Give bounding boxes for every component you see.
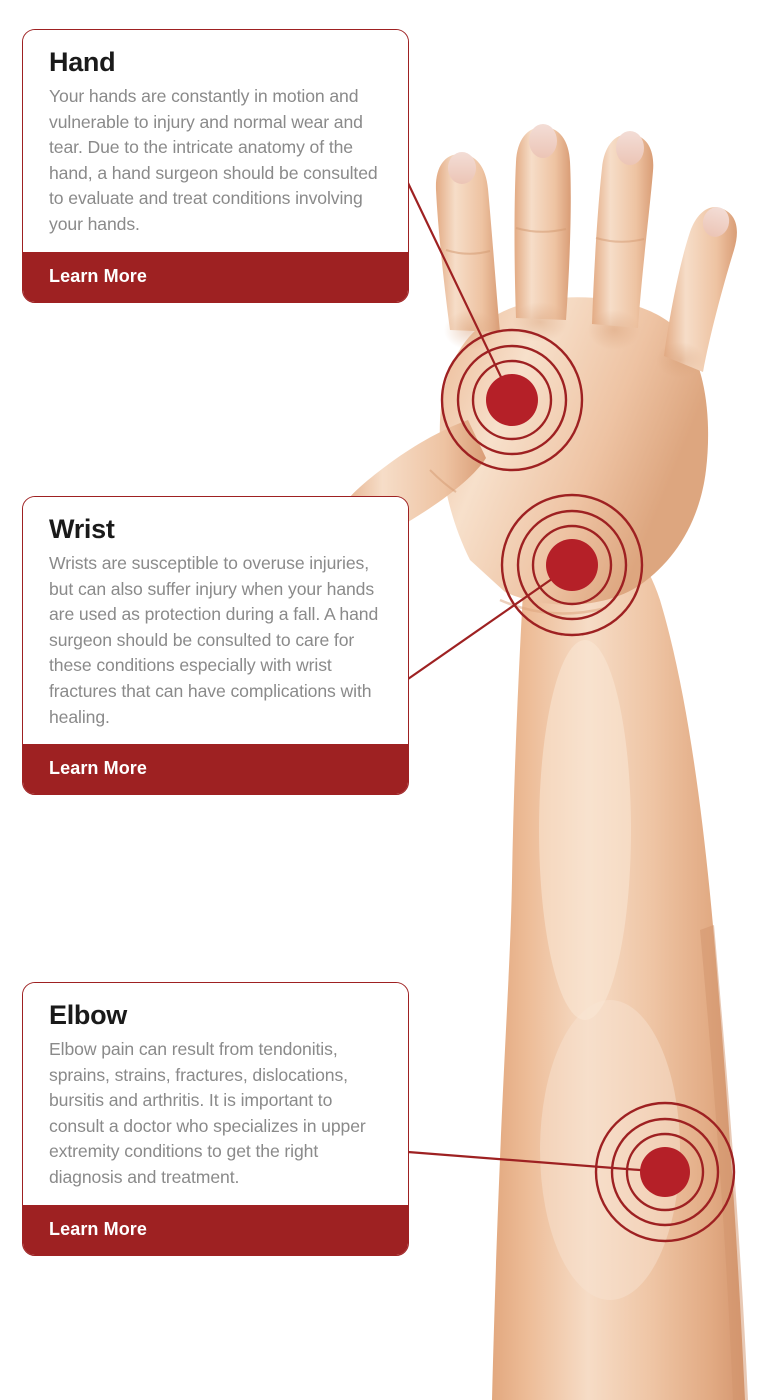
infographic-root: Hand Your hands are constantly in motion…	[0, 0, 768, 1400]
knuckle-shade-ring	[588, 310, 640, 350]
forearm-highlight	[539, 640, 631, 1020]
knuckle-shade-middle	[512, 302, 568, 342]
card-body-wrist: Wrist Wrists are susceptible to overuse …	[23, 497, 408, 744]
card-title-hand: Hand	[49, 47, 386, 78]
info-card-elbow: Elbow Elbow pain can result from tendoni…	[22, 982, 409, 1256]
info-card-hand: Hand Your hands are constantly in motion…	[22, 29, 409, 303]
learn-more-button-elbow[interactable]: Learn More	[23, 1205, 408, 1255]
card-text-hand: Your hands are constantly in motion and …	[49, 84, 386, 238]
card-title-wrist: Wrist	[49, 514, 386, 545]
card-body-elbow: Elbow Elbow pain can result from tendoni…	[23, 983, 408, 1205]
card-text-elbow: Elbow pain can result from tendonitis, s…	[49, 1037, 386, 1191]
card-text-wrist: Wrists are susceptible to overuse injuri…	[49, 551, 386, 730]
card-body-hand: Hand Your hands are constantly in motion…	[23, 30, 408, 252]
index-nail	[448, 152, 476, 184]
info-card-wrist: Wrist Wrists are susceptible to overuse …	[22, 496, 409, 795]
knuckle-shade-little	[656, 342, 704, 378]
ring-finger	[592, 134, 653, 328]
knuckle-shade-index	[444, 310, 496, 350]
learn-more-button-wrist[interactable]: Learn More	[23, 744, 408, 794]
ring-nail	[616, 131, 644, 165]
elbow-highlight	[540, 1000, 680, 1300]
learn-more-button-hand[interactable]: Learn More	[23, 252, 408, 302]
card-title-elbow: Elbow	[49, 1000, 386, 1031]
middle-nail	[529, 124, 557, 158]
